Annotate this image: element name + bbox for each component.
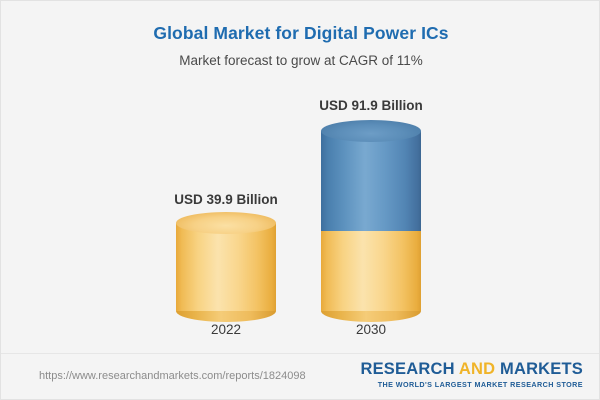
bar-body: [321, 223, 421, 311]
chart-card: Global Market for Digital Power ICs Mark…: [0, 0, 600, 400]
category-label-2030: 2030: [301, 322, 441, 337]
logo-wordmark: RESEARCH AND MARKETS: [360, 361, 583, 378]
bar-top-cap: [176, 212, 276, 234]
chart-plot-area: USD 39.9 Billion USD 91.9 Billion 2022: [1, 1, 600, 353]
logo-tagline: THE WORLD'S LARGEST MARKET RESEARCH STOR…: [360, 380, 583, 389]
logo-text-markets: MARKETS: [495, 360, 583, 378]
bar-2022[interactable]: [176, 223, 276, 311]
value-label-2030: USD 91.9 Billion: [301, 98, 441, 113]
chart-footer: https://www.researchandmarkets.com/repor…: [1, 353, 600, 400]
bar-top-cap: [321, 120, 421, 142]
value-label-2022: USD 39.9 Billion: [156, 192, 296, 207]
source-url[interactable]: https://www.researchandmarkets.com/repor…: [39, 370, 306, 382]
bar-2030[interactable]: [321, 131, 421, 311]
category-label-2022: 2022: [156, 322, 296, 337]
logo-text-research: RESEARCH: [360, 360, 458, 378]
bar-segment-base-2022: [176, 223, 276, 311]
logo-text-and: AND: [459, 360, 495, 378]
bar-body: [176, 223, 276, 311]
research-and-markets-logo[interactable]: RESEARCH AND MARKETS THE WORLD'S LARGEST…: [360, 361, 583, 389]
bar-body: [321, 131, 421, 231]
bar-segment-growth-2030: [321, 131, 421, 231]
bar-segment-base-2030: [321, 223, 421, 311]
